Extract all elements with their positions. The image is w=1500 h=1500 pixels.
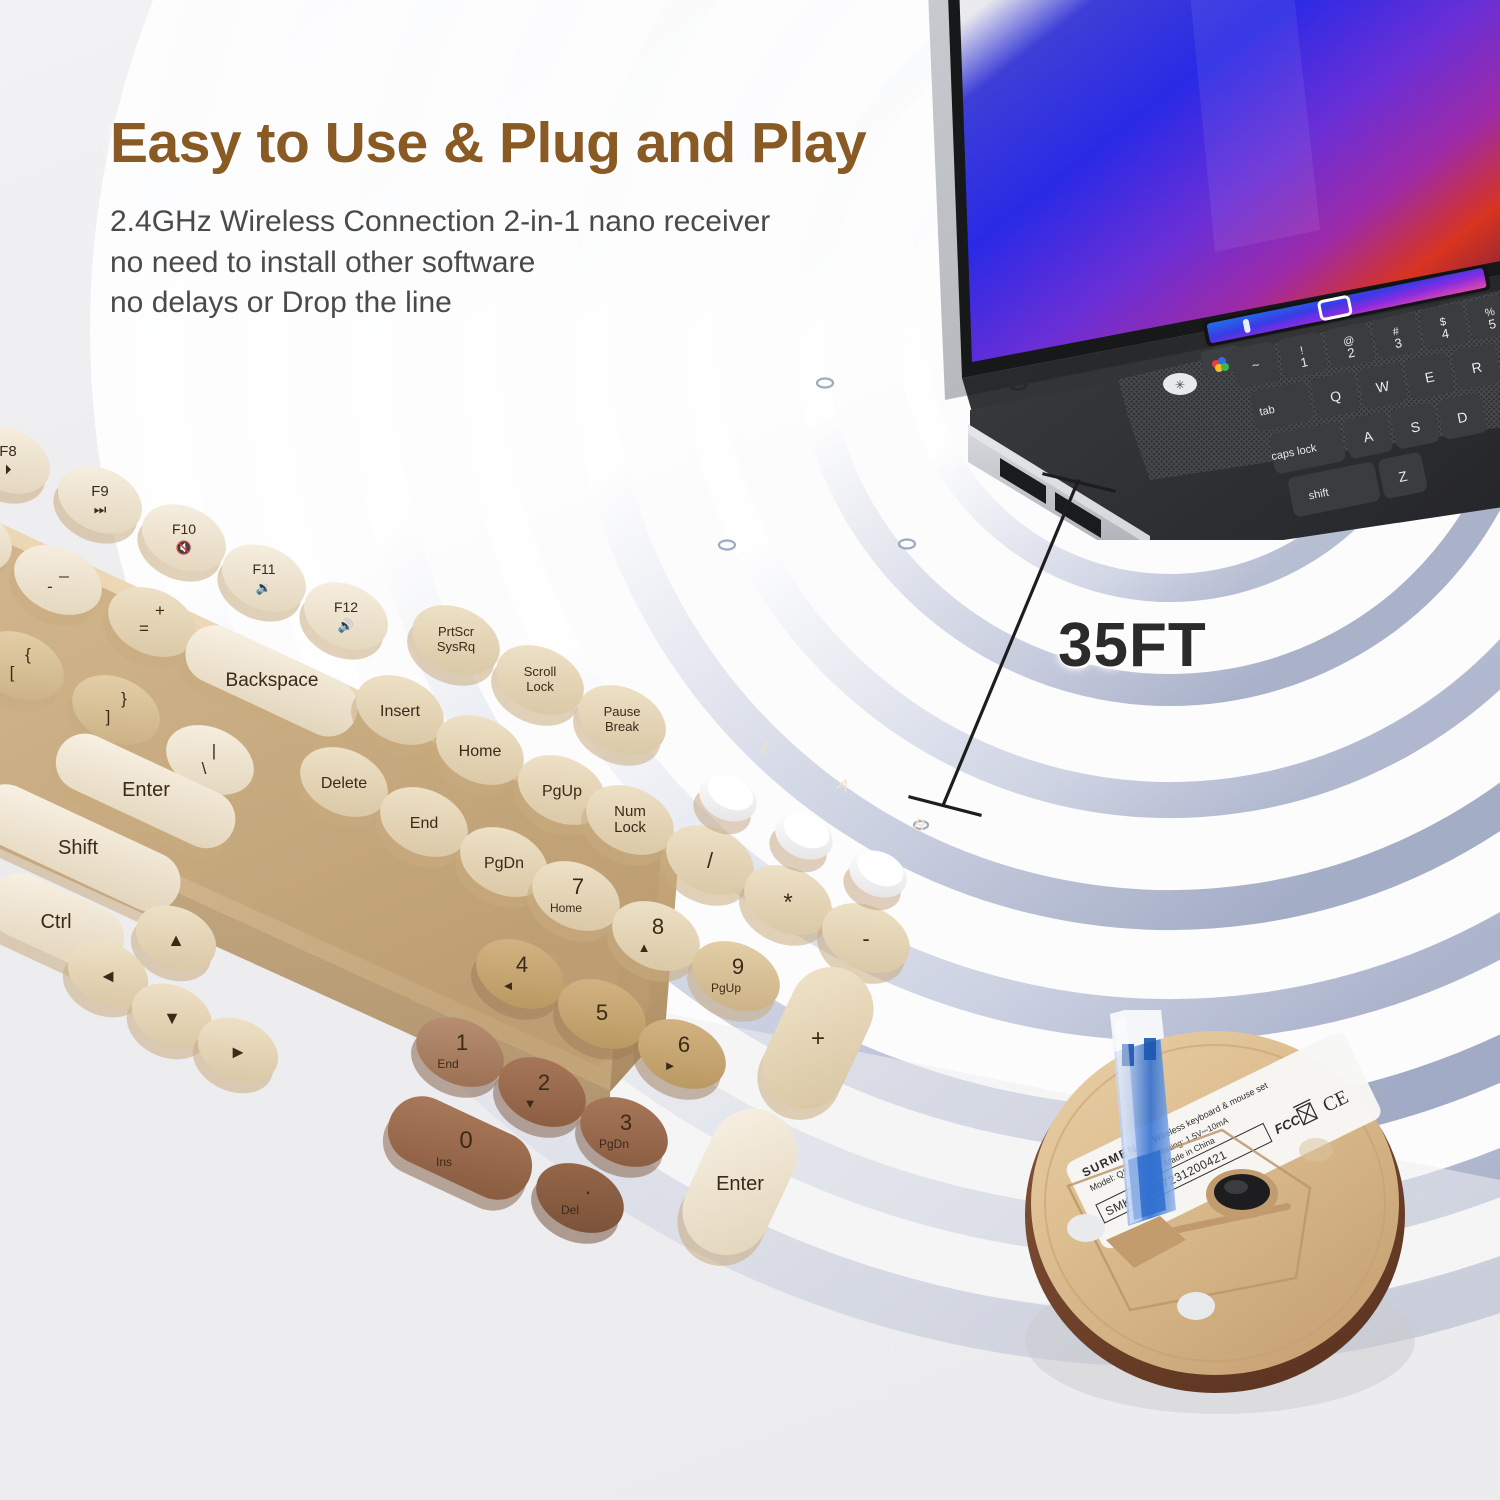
keyboard: F7 ⏮ F8 ⏵ F9 ⏭ F10 🔇 xyxy=(0,390,980,1370)
svg-text:F11: F11 xyxy=(252,561,275,577)
key-numpad-enter: Enter xyxy=(663,1095,812,1281)
svg-text:{: { xyxy=(25,645,31,664)
svg-text:🔊: 🔊 xyxy=(338,617,354,634)
svg-text:Home: Home xyxy=(459,743,502,760)
svg-text:Ctrl: Ctrl xyxy=(40,911,71,933)
svg-text:◄: ◄ xyxy=(99,966,117,986)
svg-text:5: 5 xyxy=(596,1000,608,1025)
svg-text:✳: ✳ xyxy=(1175,378,1185,392)
key-f9: F9 ⏭ xyxy=(42,453,153,556)
indicator-label-scroll: B xyxy=(910,814,928,836)
mouse-foot xyxy=(1067,1214,1105,1242)
subheadline: 2.4GHz Wireless Connection 2-in-1 nano r… xyxy=(110,202,930,324)
svg-text:+: + xyxy=(155,601,165,620)
copy-block: Easy to Use & Plug and Play 2.4GHz Wirel… xyxy=(110,112,930,324)
mouse-underside: SURMEN Model: QS108 Wireless keyboard & … xyxy=(1010,1010,1440,1440)
svg-text:End: End xyxy=(410,815,438,832)
sub-line-2: no need to install other software xyxy=(110,243,930,284)
indicator-label-num: 1 xyxy=(756,736,773,757)
svg-text:F12: F12 xyxy=(334,599,358,615)
svg-text:0: 0 xyxy=(459,1127,472,1154)
svg-text:▲: ▲ xyxy=(638,940,651,955)
svg-text:3: 3 xyxy=(620,1110,632,1135)
sub-line-3: no delays or Drop the line xyxy=(110,283,930,324)
svg-text:Scroll: Scroll xyxy=(524,664,557,679)
page-title: Easy to Use & Plug and Play xyxy=(110,112,930,176)
svg-text:Break: Break xyxy=(605,719,639,734)
svg-text:+: + xyxy=(811,1025,825,1052)
mouse-foot xyxy=(1177,1292,1215,1320)
product-scene: Easy to Use & Plug and Play 2.4GHz Wirel… xyxy=(0,0,1500,1500)
svg-text:Lock: Lock xyxy=(526,679,554,694)
svg-text:End: End xyxy=(437,1057,458,1071)
svg-text:F8: F8 xyxy=(0,443,17,460)
svg-text:-: - xyxy=(47,577,53,596)
svg-text:PgUp: PgUp xyxy=(711,981,741,995)
svg-text:9: 9 xyxy=(732,954,744,979)
svg-text:Insert: Insert xyxy=(380,703,421,720)
svg-text:PgDn: PgDn xyxy=(484,855,524,872)
svg-text:▼: ▼ xyxy=(524,1096,537,1111)
svg-text:6: 6 xyxy=(678,1032,690,1057)
svg-text:1: 1 xyxy=(456,1030,468,1055)
svg-text:►: ► xyxy=(664,1058,677,1073)
svg-text:▲: ▲ xyxy=(167,930,185,950)
svg-text:}: } xyxy=(121,689,127,708)
svg-text:🔇: 🔇 xyxy=(176,540,192,555)
svg-text:PgDn: PgDn xyxy=(599,1137,629,1151)
touch-id-button: ✳ xyxy=(1163,373,1197,395)
svg-text:▼: ▼ xyxy=(163,1008,181,1028)
svg-text:PgUp: PgUp xyxy=(542,783,582,800)
svg-text:◄: ◄ xyxy=(502,978,515,993)
range-label: 35FT xyxy=(1058,610,1207,681)
svg-text:Backspace: Backspace xyxy=(226,670,319,691)
svg-text:7: 7 xyxy=(572,874,584,899)
svg-text:.: . xyxy=(585,1174,591,1199)
svg-text:2: 2 xyxy=(538,1070,550,1095)
svg-text:/: / xyxy=(707,848,714,873)
mouse-foot xyxy=(1299,1138,1333,1162)
svg-text:\: \ xyxy=(202,759,207,778)
svg-text:4: 4 xyxy=(516,952,528,977)
svg-text:Del: Del xyxy=(561,1203,579,1217)
svg-text:|: | xyxy=(212,741,216,760)
svg-text:Pause: Pause xyxy=(604,704,641,719)
svg-text:8: 8 xyxy=(652,914,664,939)
optical-sensor-lens xyxy=(1206,1169,1278,1219)
indicator-label-caps: A xyxy=(834,774,853,796)
svg-text:Enter: Enter xyxy=(716,1173,764,1195)
svg-text:_: _ xyxy=(58,559,69,578)
svg-text:SysRq: SysRq xyxy=(437,639,475,654)
svg-text:[: [ xyxy=(10,663,15,682)
key-f8: F8 ⏵ xyxy=(0,413,61,516)
svg-text:F10: F10 xyxy=(172,521,196,537)
svg-text:⏭: ⏭ xyxy=(94,501,107,517)
svg-text:Enter: Enter xyxy=(122,779,170,801)
svg-text:F9: F9 xyxy=(91,483,109,500)
svg-text:*: * xyxy=(783,889,792,916)
svg-text:Num: Num xyxy=(614,803,646,820)
svg-text:=: = xyxy=(139,619,149,638)
svg-text:PrtScr: PrtScr xyxy=(438,624,475,639)
svg-text:Delete: Delete xyxy=(321,775,367,792)
svg-text:Lock: Lock xyxy=(614,819,646,836)
svg-text:Ins: Ins xyxy=(436,1155,452,1169)
svg-text:]: ] xyxy=(106,707,111,726)
svg-text:-: - xyxy=(862,926,869,951)
sub-line-1: 2.4GHz Wireless Connection 2-in-1 nano r… xyxy=(110,202,930,243)
svg-text:Home: Home xyxy=(550,901,582,915)
svg-text:🔉: 🔉 xyxy=(256,580,272,596)
svg-text:►: ► xyxy=(229,1042,247,1062)
svg-text:⏵: ⏵ xyxy=(5,461,12,477)
svg-text:Shift: Shift xyxy=(58,837,98,859)
